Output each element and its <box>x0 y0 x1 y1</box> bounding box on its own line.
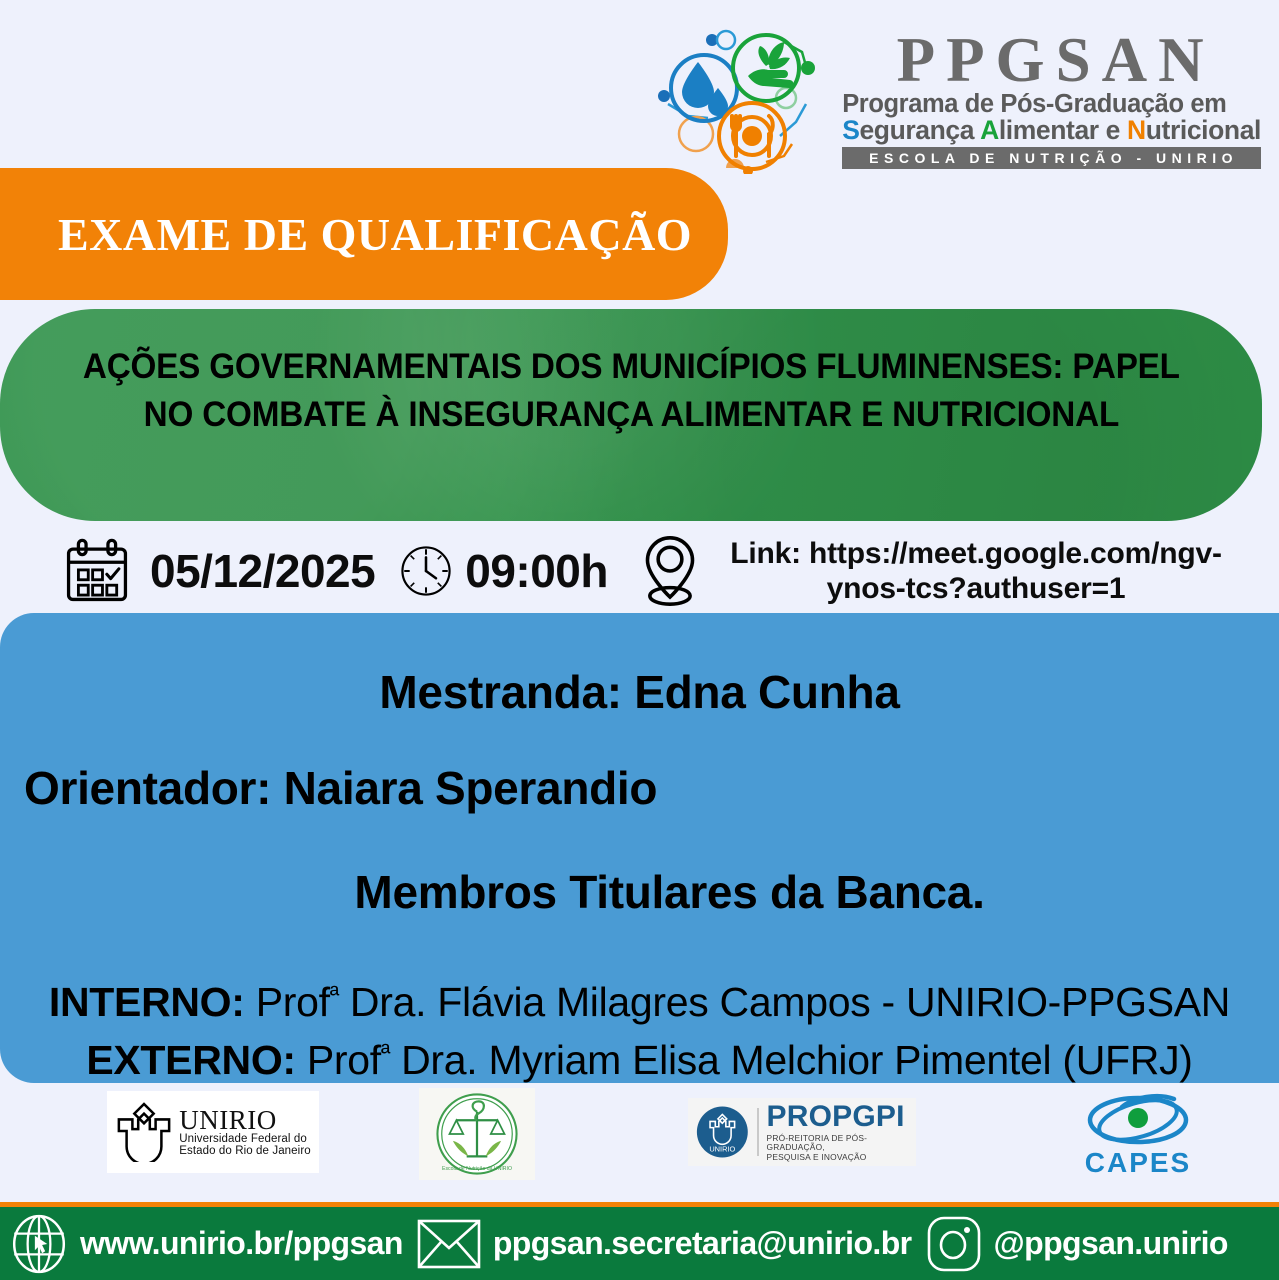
propgpi-crest-icon: UNIRIO <box>696 1104 749 1160</box>
ppgsan-acronym: PPGSAN <box>842 31 1261 91</box>
capes-orbit-icon <box>1078 1091 1198 1149</box>
propgpi-badge-text: UNIRIO <box>709 1144 735 1153</box>
board-heading: Membros Titulares da Banca. <box>0 865 1279 919</box>
event-date-item: 05/12/2025 <box>62 536 375 606</box>
ppgsan-logo: PPGSAN Programa de Pós-Graduação em Segu… <box>656 26 1261 174</box>
board-role-internal: INTERNO: <box>49 979 245 1025</box>
unirio-sub1: Universidade Federal do <box>179 1134 311 1146</box>
board-name-internal-sup: ª <box>330 981 339 1009</box>
event-link-line1: Link: https://meet.google.com/ngv- <box>716 536 1236 571</box>
contact-footer: www.unirio.br/ppgsan ppgsan.secretaria@u… <box>0 1202 1279 1280</box>
board-role-external: EXTERNO: <box>86 1037 295 1083</box>
propgpi-title: PROPGPI <box>767 1102 916 1132</box>
event-link-item: Link: https://meet.google.com/ngv- ynos-… <box>638 533 1236 609</box>
board-name-external-rest: Dra. Myriam Elisa Melchior Pimentel (UFR… <box>390 1037 1193 1083</box>
exam-type-banner: EXAME DE QUALIFICAÇÃO <box>0 168 728 300</box>
ppgsan-logo-icons <box>656 26 832 174</box>
student-line: Mestranda: Edna Cunha <box>0 665 1279 719</box>
globe-icon <box>10 1213 68 1275</box>
tagline-alimentar: limentar e <box>999 115 1127 145</box>
capes-name: CAPES <box>1085 1147 1191 1179</box>
advisor-line: Orientador: Naiara Sperandio <box>0 761 1279 815</box>
thesis-title-line2: NO COMBATE À INSEGURANÇA ALIMENTAR E NUT… <box>143 391 1118 439</box>
ppgsan-tagline-line1: Programa de Pós-Graduação em <box>842 91 1261 117</box>
event-link-value[interactable]: Link: https://meet.google.com/ngv- ynos-… <box>716 536 1236 607</box>
footer-website-text: www.unirio.br/ppgsan <box>80 1225 403 1262</box>
thesis-title-line1: AÇÕES GOVERNAMENTAIS DOS MUNICÍPIOS FLUM… <box>83 343 1180 391</box>
unirio-wordblock: UNIRIO Universidade Federal do Estado do… <box>179 1107 311 1157</box>
exam-type-label: EXAME DE QUALIFICAÇÃO <box>0 208 692 261</box>
tagline-nutricional: utricional <box>1146 115 1261 145</box>
unirio-sub2: Estado do Rio de Janeiro <box>179 1146 311 1158</box>
ppgsan-tagline-line2: Segurança Alimentar e Nutricional <box>842 117 1261 144</box>
unirio-crest-icon <box>115 1102 173 1162</box>
capes-logo: CAPES <box>1063 1090 1213 1180</box>
instagram-icon <box>926 1215 982 1273</box>
event-info-row: 05/12/2025 09:00h Link: https://meet.goo… <box>0 528 1279 614</box>
footer-email-text: ppgsan.secretaria@unirio.br <box>493 1225 912 1262</box>
clock-icon <box>397 542 455 600</box>
map-pin-icon <box>638 533 702 609</box>
escola-nutricao-seal-icon: Escola de Nutrição da UNIRIO <box>434 1091 520 1177</box>
board-name-internal-rest: Dra. Flávia Milagres Campos - UNIRIO-PPG… <box>339 979 1230 1025</box>
footer-instagram-item[interactable]: @ppgsan.unirio <box>926 1215 1228 1273</box>
thesis-title-block: AÇÕES GOVERNAMENTAIS DOS MUNICÍPIOS FLUM… <box>0 309 1262 521</box>
event-time-value: 09:00h <box>465 544 608 598</box>
footer-email-item[interactable]: ppgsan.secretaria@unirio.br <box>417 1218 912 1270</box>
footer-website-item[interactable]: www.unirio.br/ppgsan <box>10 1213 403 1275</box>
envelope-icon <box>417 1218 481 1270</box>
event-date-value: 05/12/2025 <box>150 544 375 598</box>
tagline-seguranca: egurança <box>859 115 980 145</box>
escola-nutricao-logo: Escola de Nutrição da UNIRIO <box>419 1088 535 1180</box>
tagline-a: A <box>980 115 999 145</box>
escola-nutricao-caption: Escola de Nutrição da UNIRIO <box>442 1166 512 1172</box>
escola-nutricao-bar: ESCOLA DE NUTRIÇÃO - UNIRIO <box>842 147 1261 169</box>
board-name-external-prefix: Prof <box>307 1037 381 1083</box>
unirio-logo: UNIRIO Universidade Federal do Estado do… <box>107 1091 319 1173</box>
event-time-item: 09:00h <box>397 542 608 600</box>
propgpi-text: PROPGPI PRÓ-REITORIA DE PÓS-GRADUAÇÃO, P… <box>767 1102 916 1161</box>
unirio-name: UNIRIO <box>179 1107 311 1134</box>
propgpi-logo: UNIRIO PROPGPI PRÓ-REITORIA DE PÓS-GRADU… <box>688 1098 916 1166</box>
calendar-icon <box>62 536 132 606</box>
tagline-n: N <box>1127 115 1146 145</box>
propgpi-divider <box>757 1108 759 1156</box>
board-name-external-sup: ª <box>381 1040 390 1068</box>
propgpi-sub1: PRÓ-REITORIA DE PÓS-GRADUAÇÃO, <box>767 1134 916 1151</box>
board-member-external: EXTERNO: Profª Dra. Myriam Elisa Melchio… <box>0 1031 1279 1089</box>
event-link-line2: ynos-tcs?authuser=1 <box>716 571 1236 606</box>
footer-instagram-text: @ppgsan.unirio <box>994 1225 1228 1262</box>
propgpi-sub2: PESQUISA E INOVAÇÃO <box>767 1153 916 1161</box>
tagline-s: S <box>842 115 859 145</box>
board-name-internal-prefix: Prof <box>256 979 330 1025</box>
ppgsan-wordmark: PPGSAN Programa de Pós-Graduação em Segu… <box>842 31 1261 169</box>
board-member-internal: INTERNO: Profª Dra. Flávia Milagres Camp… <box>0 973 1279 1031</box>
participants-block: Mestranda: Edna Cunha Orientador: Naiara… <box>0 613 1279 1083</box>
